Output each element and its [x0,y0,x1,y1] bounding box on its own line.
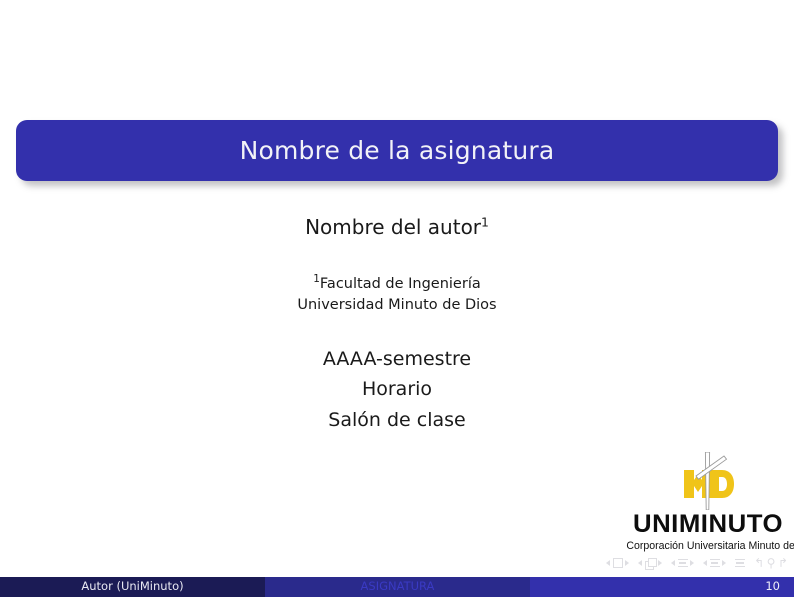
date-semester: AAAA-semestre [0,344,794,374]
institute-faculty: Facultad de Ingeniería [320,276,481,292]
logo-name: UNIMINUTO [620,512,794,537]
footline-title: ASIGNATURA [265,577,530,597]
footline: Autor (UniMinuto) ASIGNATURA 10 [0,577,794,597]
forward-icon[interactable]: ↱ [778,557,788,569]
frame-next-icon[interactable] [658,560,662,566]
date-block: AAAA-semestre Horario Salón de clase [0,344,794,435]
uniminuto-mark-icon [680,452,736,510]
uniminuto-logo: UNIMINUTO Corporación Universitaria Minu… [623,452,793,556]
slide-prev-icon[interactable] [606,560,610,566]
author-name: Nombre del autor1 [0,216,794,239]
institute-university: Universidad Minuto de Dios [0,295,794,316]
author-label: Nombre del autor [305,215,481,239]
subsection-next-icon[interactable] [690,560,694,566]
subsection-icon[interactable] [678,559,688,568]
document-icon[interactable] [735,559,745,568]
date-classroom: Salón de clase [0,405,794,435]
back-icon[interactable]: ↰ [754,557,764,569]
logo-wordmark: UNIMINUTO Corporación Universitaria Minu… [623,512,793,552]
institute-block: 1Facultad de Ingeniería Universidad Minu… [0,274,794,316]
frame-icon[interactable] [645,558,656,568]
titlepage-body: Nombre del autor1 1Facultad de Ingenierí… [0,216,794,435]
beamer-navigation-symbols[interactable]: ↰ ⚲ ↱ [498,554,788,572]
footline-author: Autor (UniMinuto) [0,577,265,597]
footline-page-number: 10 [530,577,794,597]
author-footnote-mark: 1 [481,214,489,229]
slide-next-icon[interactable] [625,560,629,566]
frame-prev-icon[interactable] [638,560,642,566]
institute-line-1: 1Facultad de Ingeniería [0,274,794,295]
slide-icon[interactable] [613,558,623,568]
nav-group-document[interactable] [735,559,745,568]
slide-title-banner: Nombre de la asignatura [16,120,778,181]
section-next-icon[interactable] [722,560,726,566]
nav-group-slide[interactable] [606,558,629,568]
nav-group-history[interactable]: ↰ ⚲ ↱ [754,557,788,569]
institute-footnote-mark: 1 [313,273,320,285]
nav-group-subsection[interactable] [671,559,694,568]
logo-tagline: Corporación Universitaria Minuto de Dios [626,540,789,552]
nav-group-section[interactable] [703,559,726,568]
nav-group-frame[interactable] [638,558,662,568]
search-icon[interactable]: ⚲ [767,557,776,569]
section-icon[interactable] [710,559,720,568]
subsection-prev-icon[interactable] [671,560,675,566]
page-title: Nombre de la asignatura [240,138,555,163]
section-prev-icon[interactable] [703,560,707,566]
date-schedule: Horario [0,374,794,404]
